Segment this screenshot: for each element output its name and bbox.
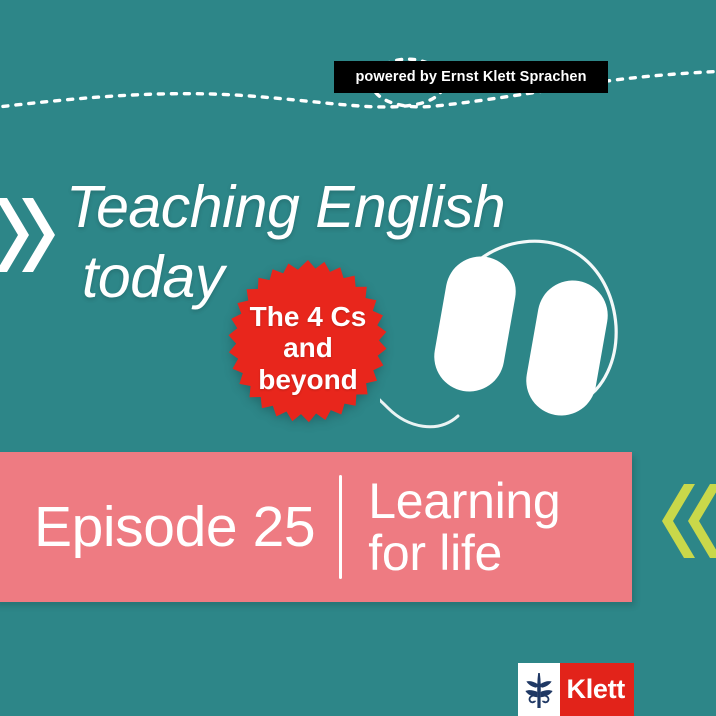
klett-emblem-icon (519, 670, 559, 710)
powered-by-banner: powered by Ernst Klett Sprachen (334, 61, 608, 93)
episode-subtitle-line-1: Learning (368, 475, 560, 527)
klett-word-text: Klett (567, 676, 626, 703)
topic-badge-line-3: beyond (258, 364, 358, 396)
episode-banner: Episode 25 Learning for life (0, 452, 632, 602)
topic-badge-text: The 4 Cs and beyond (218, 258, 398, 438)
episode-subtitle-line-2: for life (368, 527, 560, 579)
topic-badge-line-2: and (283, 332, 333, 364)
klett-wordmark: Klett (560, 663, 635, 716)
double-chevron-left-icon (662, 482, 716, 560)
klett-logo: Klett (518, 663, 634, 716)
topic-badge: The 4 Cs and beyond (218, 258, 398, 438)
klett-mark-icon (518, 663, 560, 716)
double-chevron-right-icon (0, 196, 56, 274)
episode-number: Episode 25 (34, 499, 315, 556)
powered-by-text: powered by Ernst Klett Sprachen (355, 69, 586, 85)
episode-subtitle: Learning for life (368, 475, 560, 579)
podcast-cover: powered by Ernst Klett Sprachen Teaching… (0, 0, 716, 716)
topic-badge-line-1: The 4 Cs (250, 301, 367, 333)
show-title-line-1: Teaching English (66, 174, 505, 240)
episode-divider (339, 475, 342, 579)
